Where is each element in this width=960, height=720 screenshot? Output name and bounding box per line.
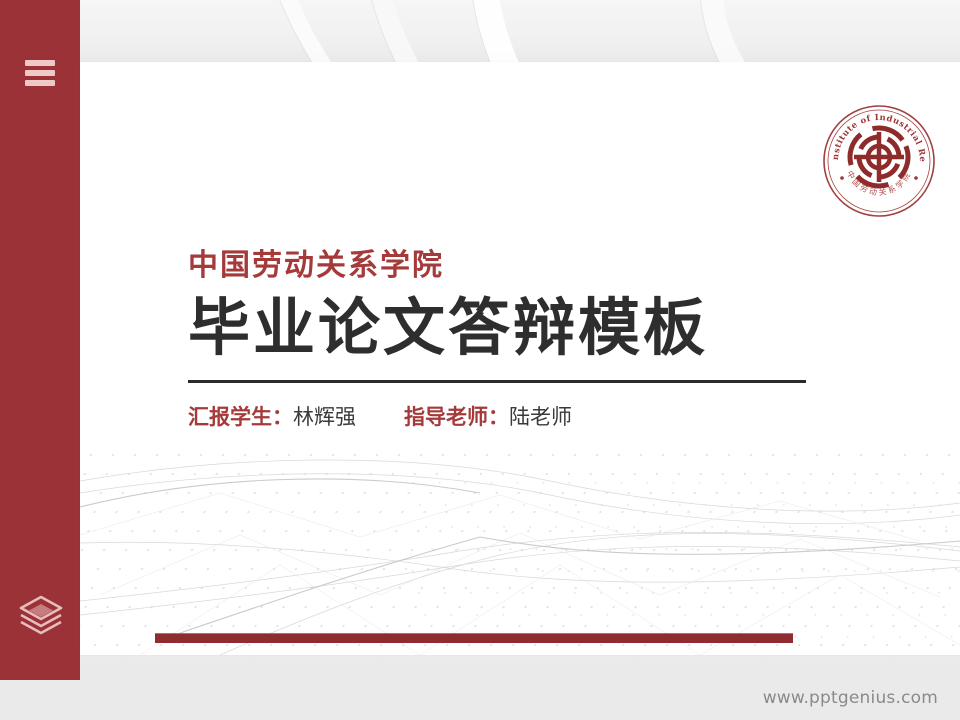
slide-surface: China Institute of Industrial Relations … xyxy=(80,62,960,655)
top-decorative-band xyxy=(0,0,960,62)
seal-english-text: China Institute of Industrial Relations xyxy=(820,102,928,163)
student-label: 汇报学生： xyxy=(188,405,293,429)
bottom-accent-bar xyxy=(155,633,793,643)
student-info: 汇报学生：林辉强 xyxy=(188,405,356,430)
presenter-info-row: 汇报学生：林辉强 指导老师：陆老师 xyxy=(188,405,888,430)
layers-stack-icon[interactable] xyxy=(16,590,66,640)
hamburger-bar-1 xyxy=(25,60,55,66)
swoosh-curve-4 xyxy=(700,0,960,62)
student-name: 林辉强 xyxy=(293,405,356,429)
school-name: 中国劳动关系学院 xyxy=(188,247,888,285)
left-sidebar xyxy=(0,0,80,680)
advisor-label: 指导老师： xyxy=(404,405,509,429)
hamburger-bar-2 xyxy=(25,70,55,76)
footer-website-url: www.pptgenius.com xyxy=(763,688,938,708)
mesh-wave-decoration xyxy=(80,415,960,655)
advisor-info: 指导老师：陆老师 xyxy=(404,405,572,430)
advisor-name: 陆老师 xyxy=(509,405,572,429)
hamburger-bar-3 xyxy=(25,80,55,86)
title-block: 中国劳动关系学院 毕业论文答辩模板 汇报学生：林辉强 指导老师：陆老师 xyxy=(188,247,888,430)
university-seal-logo: China Institute of Industrial Relations … xyxy=(820,102,938,220)
title-divider xyxy=(188,380,806,383)
presentation-slide-canvas: China Institute of Industrial Relations … xyxy=(0,0,960,720)
page-title: 毕业论文答辩模板 xyxy=(188,293,888,362)
hamburger-menu-icon[interactable] xyxy=(25,60,55,86)
svg-text:China Institute of Industrial: China Institute of Industrial Relations xyxy=(820,102,928,163)
